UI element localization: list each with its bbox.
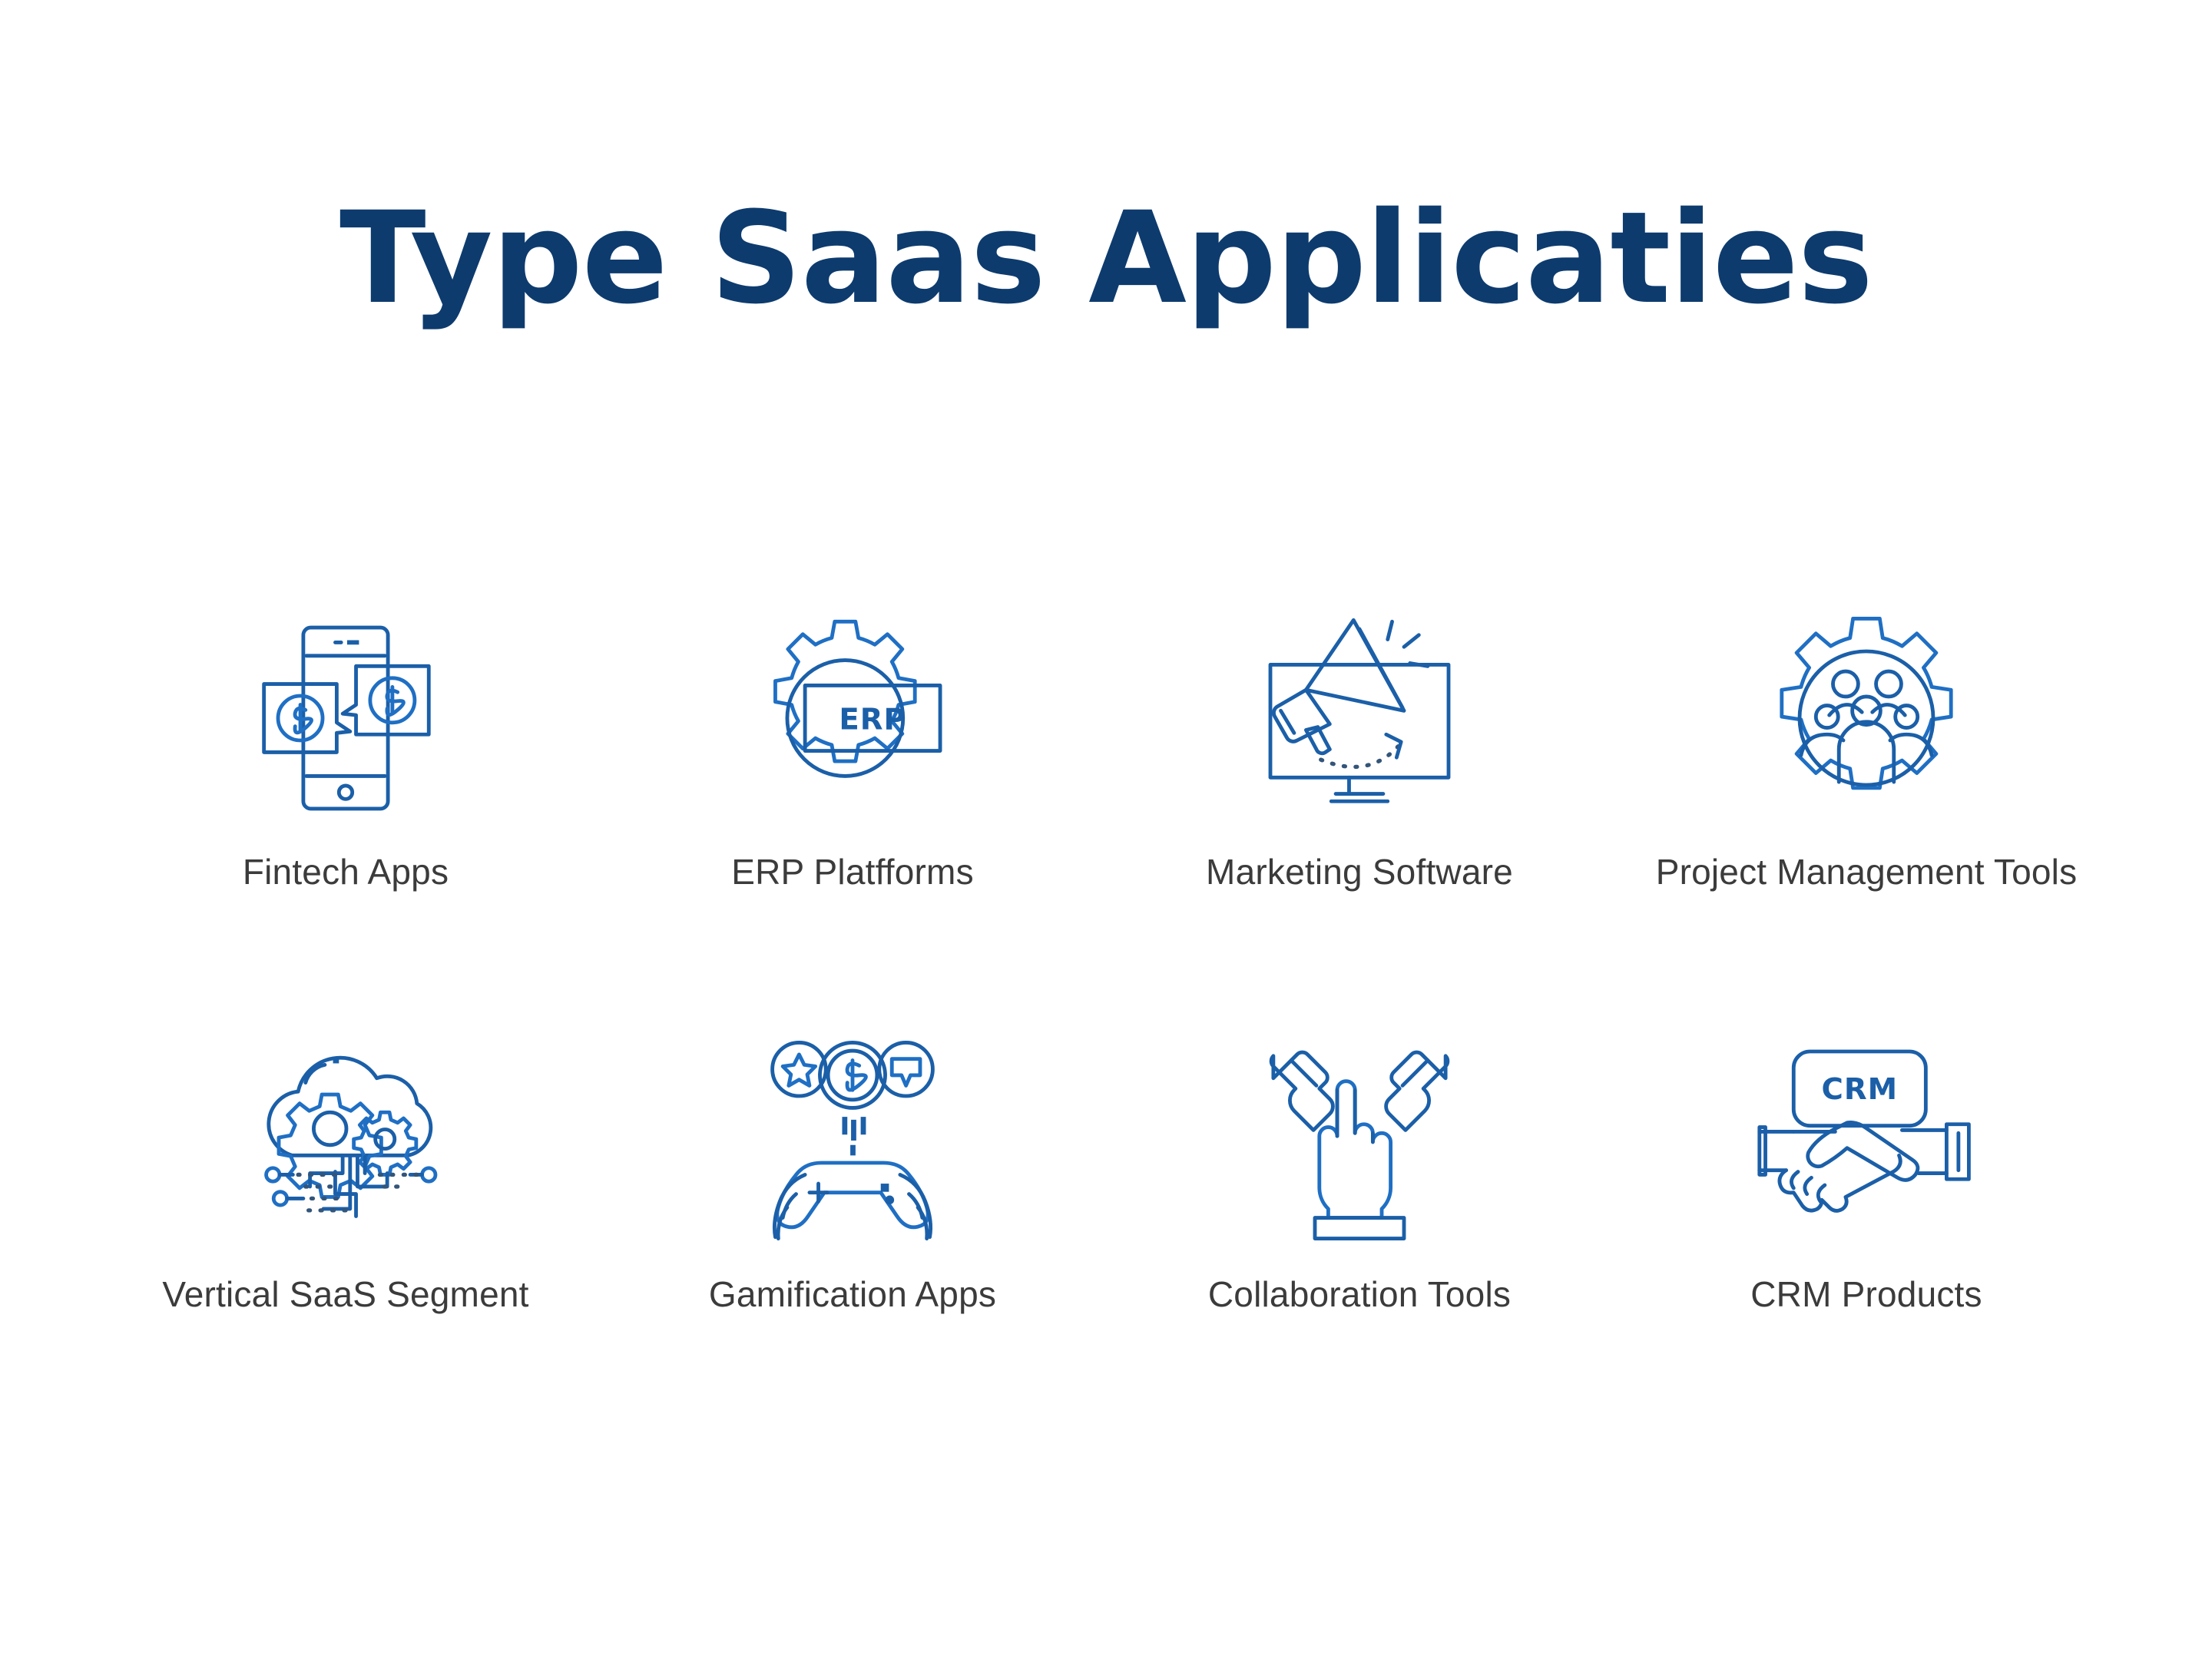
grid-item-gamification-apps[interactable]: Gamification Apps — [599, 1029, 1106, 1306]
grid-item-label: Vertical SaaS Segment — [162, 1273, 528, 1315]
grid-item-collaboration-tools[interactable]: Collaboration Tools — [1106, 1029, 1613, 1306]
grid-item-label: Collaboration Tools — [1208, 1273, 1511, 1315]
grid-item-project-management-tools[interactable]: Project Management Tools — [1613, 607, 2120, 883]
grid-item-crm-products[interactable]: CRM — [1613, 1029, 2120, 1306]
grid-item-label: Project Management Tools — [1656, 851, 2078, 892]
grid-item-fintech-apps[interactable]: Fintech Apps — [92, 607, 599, 883]
grid-item-label: Gamification Apps — [709, 1273, 996, 1315]
gear-people-group-icon — [1740, 607, 1993, 829]
monitor-megaphone-icon — [1233, 607, 1486, 829]
svg-text:CRM: CRM — [1822, 1072, 1899, 1107]
grid-item-label: Marketing Software — [1206, 851, 1513, 892]
gamepad-rewards-icon — [726, 1029, 979, 1252]
grid-item-label: ERP Platfforms — [731, 851, 974, 892]
page-title: Type Saas Applicaties — [0, 192, 2212, 325]
three-hands-together-icon — [1233, 1029, 1486, 1252]
grid-item-erp-platforms[interactable]: ERP ERP Platfforms — [599, 607, 1106, 883]
smartphone-money-transfer-icon — [219, 607, 472, 829]
grid-item-label: CRM Products — [1750, 1273, 1982, 1315]
svg-text:ERP: ERP — [839, 703, 906, 737]
gear-erp-icon: ERP — [726, 607, 979, 829]
grid-item-vertical-saas-segment[interactable]: Vertical SaaS Segment — [92, 1029, 599, 1306]
handshake-crm-icon: CRM — [1740, 1029, 1993, 1252]
slide-canvas: Type Saas Applicaties — [0, 0, 2212, 1659]
cloud-gears-circuit-icon — [219, 1029, 472, 1252]
saas-type-grid: Fintech Apps ERP ERP Platfforms — [92, 607, 2120, 1306]
grid-item-label: Fintech Apps — [243, 851, 449, 892]
grid-item-marketing-software[interactable]: Marketing Software — [1106, 607, 1613, 883]
